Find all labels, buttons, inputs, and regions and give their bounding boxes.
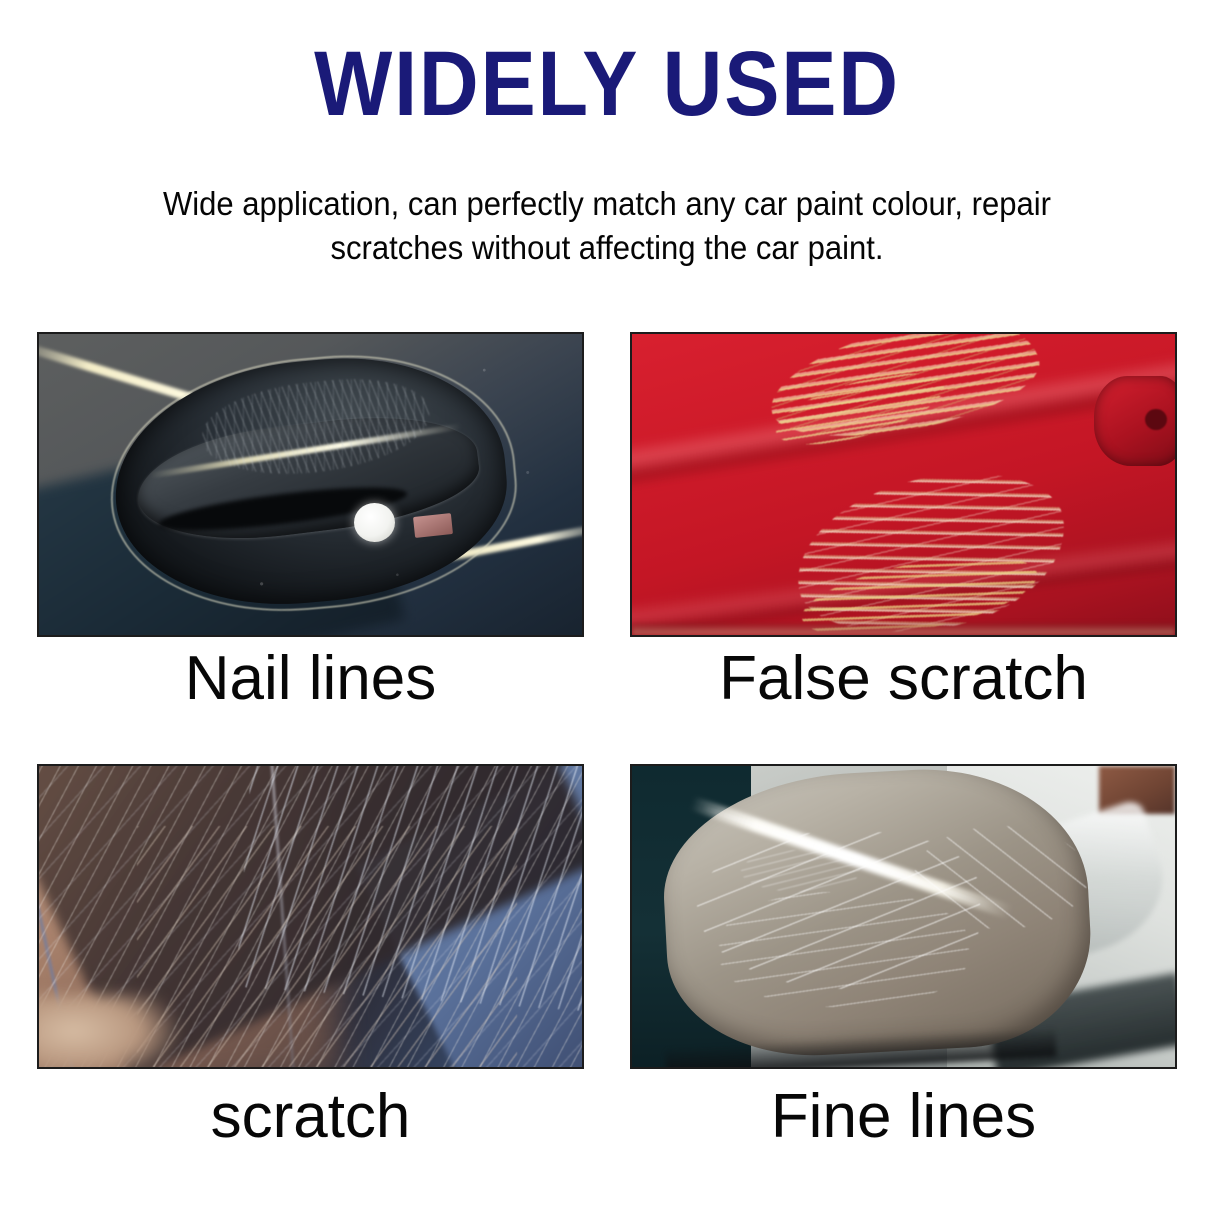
scratch-layer-centre	[137, 826, 517, 1067]
blurred-gravel-foreground	[37, 995, 180, 1069]
gallery-item-caption: Nail lines	[37, 641, 584, 717]
gallery-item-false-scratch: False scratch	[630, 332, 1177, 717]
door-handle-keyhole	[1145, 409, 1167, 430]
gallery-item-caption: scratch	[37, 1079, 584, 1155]
gallery-item-caption: Fine lines	[630, 1079, 1177, 1155]
gallery-item-nail-lines: Nail lines	[37, 332, 584, 717]
widely-used-infographic: WIDELY USED Wide application, can perfec…	[0, 0, 1214, 1214]
photo-car-door-handle-with-nail-line-scratches	[37, 332, 584, 637]
panel-bottom-edge	[632, 623, 1175, 635]
photo-red-car-panel-with-false-scratch-scuffs	[630, 332, 1177, 637]
gallery-item-caption: False scratch	[630, 641, 1177, 717]
photo-dark-glossy-panel-with-deep-scratches	[37, 764, 584, 1069]
gallery-item-scratch: scratch	[37, 764, 584, 1155]
photo-silver-wing-mirror-with-fine-lines	[630, 764, 1177, 1069]
paint-dust-specks	[39, 334, 582, 635]
page-subtitle: Wide application, can perfectly match an…	[100, 182, 1113, 270]
gallery-item-fine-lines: Fine lines	[630, 764, 1177, 1155]
use-case-gallery: Nail lines False scratch	[0, 332, 1214, 1192]
fine-line-layer-right	[914, 826, 1088, 928]
page-title: WIDELY USED	[61, 36, 1154, 132]
fine-line-layer-lower	[719, 892, 969, 1006]
